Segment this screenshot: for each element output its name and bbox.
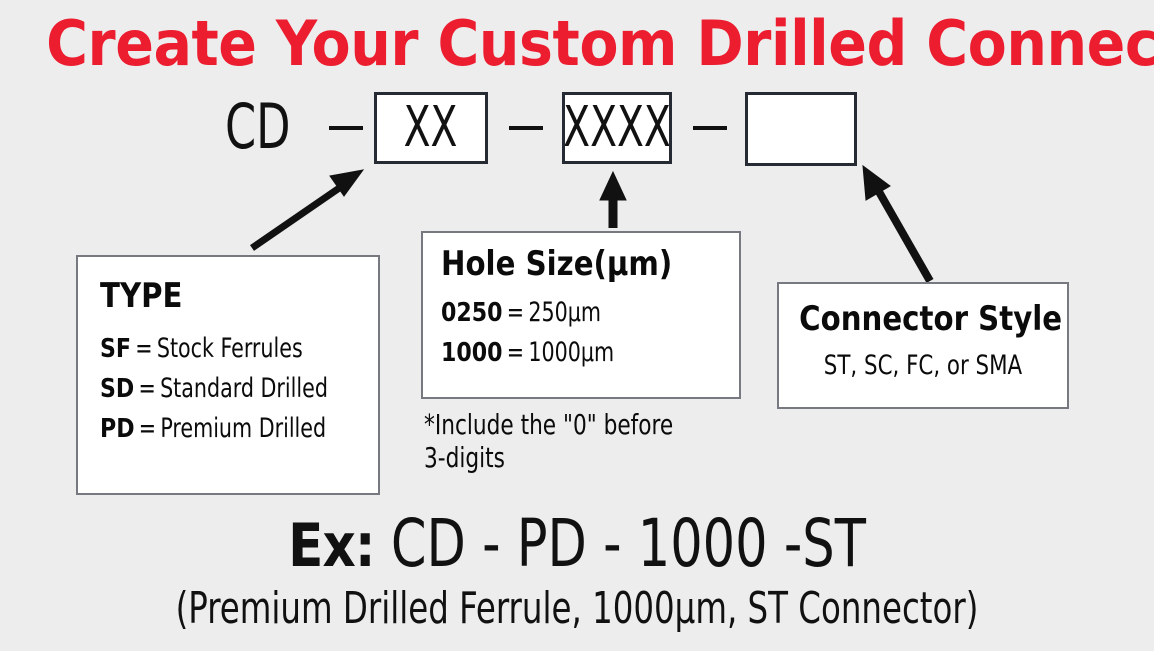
example-part-number-line: Ex: CD - PD - 1000 -ST <box>81 507 1073 583</box>
formula-box-hole-label: XXXX <box>563 99 671 157</box>
hole-size-note-line1: *Include the "0" before <box>424 408 691 441</box>
connector-box-heading: Connector Style <box>799 300 1047 338</box>
example-description: (Premium Drilled Ferrule, 1000µm, ST Con… <box>104 583 1050 635</box>
hole-size-note-line2: 3-digits <box>424 441 691 474</box>
type-row-sd: SD=Standard Drilled <box>100 369 336 409</box>
hole-size-info-box: Hole Size(µm) 0250=250µm 1000=1000µm <box>421 231 741 399</box>
hole-row-1000: 1000=1000µm <box>441 333 694 373</box>
hole-code-0250: 0250 <box>441 298 503 328</box>
type-desc-pd: Premium Drilled <box>160 413 326 444</box>
formula-dash-1 <box>329 126 363 130</box>
hole-eq-1000: = <box>503 337 529 368</box>
type-eq-sf: = <box>131 333 157 364</box>
formula-box-connector[interactable] <box>745 92 857 166</box>
type-eq-pd: = <box>135 413 161 444</box>
arrow-to-hole-box <box>600 172 626 228</box>
formula-prefix: CD <box>225 88 291 166</box>
hole-box-heading: Hole Size(µm) <box>441 245 697 283</box>
hole-size-note: *Include the "0" before 3-digits <box>424 408 691 474</box>
type-desc-sd: Standard Drilled <box>160 373 328 404</box>
type-desc-sf: Stock Ferrules <box>157 333 303 364</box>
connector-options: ST, SC, FC, or SMA <box>796 350 1049 382</box>
type-eq-sd: = <box>134 373 160 404</box>
type-row-sf: SF=Stock Ferrules <box>100 329 336 369</box>
formula-box-type[interactable]: XX <box>374 92 488 164</box>
arrow-to-connector-box <box>863 166 930 281</box>
type-code-pd: PD <box>100 414 135 444</box>
connector-style-info-box: Connector Style ST, SC, FC, or SMA <box>777 282 1069 409</box>
part-number-formula: CD XX XXXX <box>225 88 885 170</box>
example-label: Ex: <box>288 511 375 581</box>
formula-box-type-label: XX <box>404 99 458 157</box>
type-code-sf: SF <box>100 334 131 364</box>
type-code-sd: SD <box>100 374 134 404</box>
page-title: Create Your Custom Drilled Connector <box>46 8 1108 80</box>
hole-eq-0250: = <box>503 297 529 328</box>
hole-desc-0250: 250µm <box>528 297 601 328</box>
formula-box-hole[interactable]: XXXX <box>562 92 672 164</box>
hole-code-1000: 1000 <box>441 338 503 368</box>
formula-dash-2 <box>509 126 543 130</box>
arrow-to-type-box <box>252 170 363 248</box>
type-row-pd: PD=Premium Drilled <box>100 409 336 449</box>
formula-dash-3 <box>693 126 727 130</box>
diagram-canvas: Create Your Custom Drilled Connector CD … <box>0 0 1154 651</box>
hole-row-0250: 0250=250µm <box>441 293 694 333</box>
example-part-number: CD - PD - 1000 -ST <box>391 505 866 582</box>
type-box-heading: TYPE <box>100 277 339 315</box>
hole-desc-1000: 1000µm <box>528 337 614 368</box>
type-info-box: TYPE SF=Stock Ferrules SD=Standard Drill… <box>76 255 380 495</box>
example-block: Ex: CD - PD - 1000 -ST (Premium Drilled … <box>0 507 1154 635</box>
